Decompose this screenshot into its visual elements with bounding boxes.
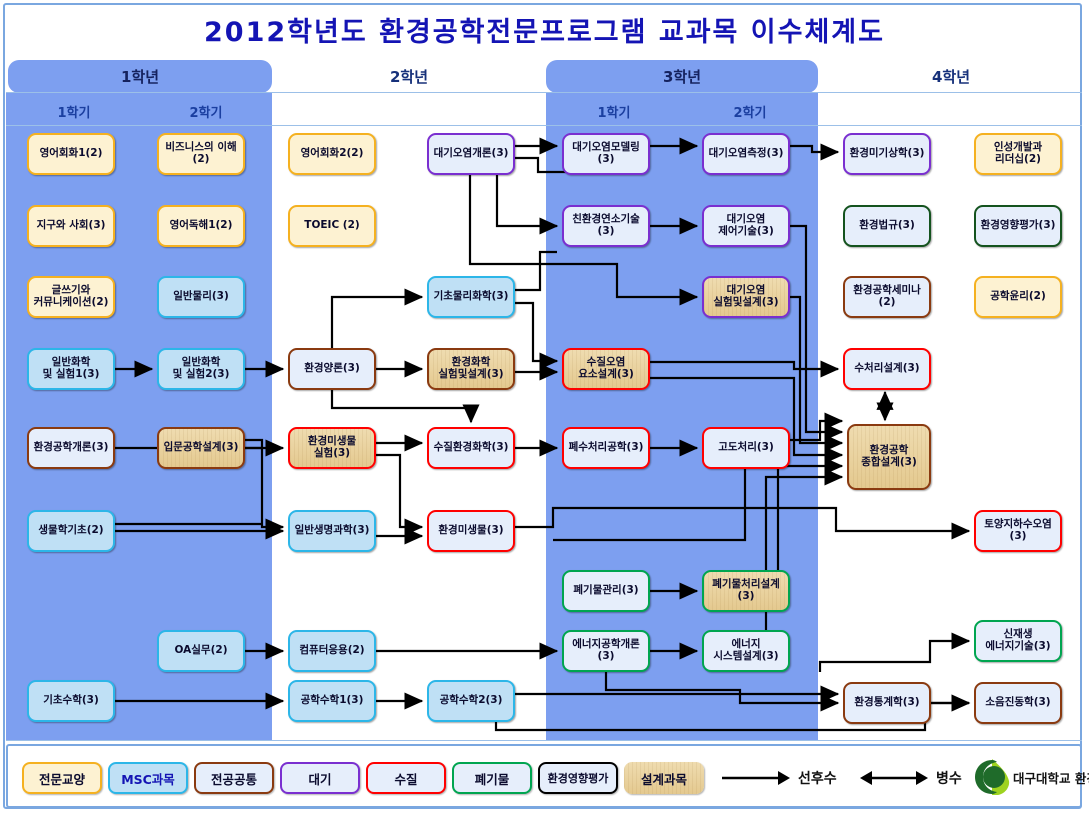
- course-node-biz[interactable]: 비즈니스의 이해 (2): [157, 133, 245, 175]
- header-separator-bottom: [6, 125, 1082, 126]
- legend-chip-0: 전문교양: [22, 762, 102, 794]
- course-node-envtheory[interactable]: 환경양론(3): [288, 348, 376, 390]
- course-node-chem2[interactable]: 일반화학 및 실험2(3): [157, 348, 245, 390]
- course-node-energyint[interactable]: 에너지공학개론 (3): [562, 630, 650, 672]
- course-node-watertreat[interactable]: 수처리설계(3): [843, 348, 931, 390]
- course-node-lifesci[interactable]: 일반생명과학(3): [288, 510, 376, 552]
- course-node-biobasic[interactable]: 생물학기초(2): [27, 510, 115, 552]
- course-node-engread[interactable]: 영어독해1(2): [157, 205, 245, 247]
- course-node-chem1[interactable]: 일반화학 및 실험1(3): [27, 348, 115, 390]
- course-node-ethics[interactable]: 공학윤리(2): [974, 276, 1062, 318]
- legend-panel: 전문교양MSC과목전공공통대기수질폐기물환경영향평가설계과목 선후수 병수 대구…: [6, 744, 1082, 808]
- course-node-envintro[interactable]: 환경공학개론(3): [27, 427, 115, 469]
- course-node-noise[interactable]: 소음진동학(3): [974, 682, 1062, 724]
- course-node-advtreat[interactable]: 고도처리(3): [702, 427, 790, 469]
- course-node-airmeasure[interactable]: 대기오염측정(3): [702, 133, 790, 175]
- prereq-arrow-icon: [720, 762, 792, 794]
- semester-header-y1s2: 2학기: [140, 98, 272, 125]
- course-node-earth[interactable]: 지구와 사회(3): [27, 205, 115, 247]
- course-node-envstat[interactable]: 환경통계학(3): [843, 682, 931, 724]
- course-node-wastedes[interactable]: 폐기물처리설계 (3): [702, 570, 790, 612]
- course-node-computer[interactable]: 컴퓨터응용(2): [288, 630, 376, 672]
- course-node-envlaw[interactable]: 환경법규(3): [843, 205, 931, 247]
- course-node-eng1[interactable]: 영어회화1(2): [27, 133, 115, 175]
- course-node-envmicro[interactable]: 환경미생물(3): [427, 510, 515, 552]
- course-node-airctrl[interactable]: 대기오염 제어기술(3): [702, 205, 790, 247]
- semester-header-y2s2: 2학기: [409, 98, 544, 125]
- course-node-envchemex[interactable]: 환경화학 실험및설계(3): [427, 348, 515, 390]
- course-node-envmicroex[interactable]: 환경미생물 실험(3): [288, 427, 376, 469]
- legend-chip-1: MSC과목: [108, 762, 188, 794]
- legend-chip-2: 전공공통: [194, 762, 274, 794]
- course-node-energysys[interactable]: 에너지 시스템설계(3): [702, 630, 790, 672]
- course-node-envassess[interactable]: 환경영향평가(3): [974, 205, 1062, 247]
- course-node-airmodel[interactable]: 대기오염모델링 (3): [562, 133, 650, 175]
- course-node-micromet[interactable]: 환경미기상학(3): [843, 133, 931, 175]
- year-header-3: 3학년: [546, 60, 818, 93]
- university-logo-icon: [971, 757, 1013, 797]
- course-node-basicmath[interactable]: 기초수학(3): [27, 680, 115, 722]
- semester-header-y4s1: 1학기: [820, 98, 951, 125]
- course-node-engmath1[interactable]: 공학수학1(3): [288, 680, 376, 722]
- legend-prereq-label: 선후수: [798, 762, 837, 794]
- chart-bottom-separator: [6, 740, 1082, 741]
- course-node-toeic[interactable]: TOEIC (2): [288, 205, 376, 247]
- course-node-engmath2[interactable]: 공학수학2(3): [427, 680, 515, 722]
- course-node-oa[interactable]: OA실무(2): [157, 630, 245, 672]
- year-header-2: 2학년: [274, 60, 544, 93]
- course-node-renewable[interactable]: 신재생 에너지기술(3): [974, 620, 1062, 662]
- course-node-write[interactable]: 글쓰기와 커뮤니케이션(2): [27, 276, 115, 318]
- semester-header-y2s1: 1학기: [274, 98, 409, 125]
- year-header-4: 4학년: [820, 60, 1082, 93]
- curriculum-flowchart-page: 2012학년도 환경공학전문프로그램 교과목 이수체계도 1학년 2학년 3학년…: [0, 0, 1089, 814]
- legend-chip-6: 환경영향평가: [538, 762, 618, 794]
- year-header-1: 1학년: [8, 60, 272, 93]
- course-node-soilwater[interactable]: 토양지하수오염 (3): [974, 510, 1062, 552]
- header-separator-top: [6, 92, 1082, 93]
- legend-chip-4: 수질: [366, 762, 446, 794]
- course-node-airintro[interactable]: 대기오염개론(3): [427, 133, 515, 175]
- course-node-capstone[interactable]: 환경공학 종합설계(3): [847, 424, 931, 490]
- course-node-airexp[interactable]: 대기오염 실험및설계(3): [702, 276, 790, 318]
- course-node-eng2[interactable]: 영어회화2(2): [288, 133, 376, 175]
- course-node-physchem[interactable]: 기초물리화학(3): [427, 276, 515, 318]
- semester-header-y4s2: 2학기: [951, 98, 1082, 125]
- course-node-introdes[interactable]: 입문공학설계(3): [157, 427, 245, 469]
- legend-corequisite-label: 병수: [936, 762, 962, 794]
- semester-header-y1s1: 1학기: [8, 98, 140, 125]
- course-node-phys[interactable]: 일반물리(3): [157, 276, 245, 318]
- page-title: 2012학년도 환경공학전문프로그램 교과목 이수체계도: [0, 10, 1089, 49]
- university-name-label: 대구대학교 환경공학과: [1013, 761, 1089, 793]
- course-node-waterchem[interactable]: 수질환경화학(3): [427, 427, 515, 469]
- course-node-wastewater[interactable]: 폐수처리공학(3): [562, 427, 650, 469]
- legend-chip-5: 폐기물: [452, 762, 532, 794]
- course-node-ecotech[interactable]: 친환경연소기술 (3): [562, 205, 650, 247]
- semester-header-y3s1: 1학기: [546, 98, 682, 125]
- legend-chip-7: 설계과목: [624, 762, 704, 794]
- semester-header-y3s2: 2학기: [682, 98, 818, 125]
- course-node-wastemgmt[interactable]: 폐기물관리(3): [562, 570, 650, 612]
- course-node-leadership[interactable]: 인성개발과 리더십(2): [974, 133, 1062, 175]
- corequisite-arrow-icon: [858, 762, 930, 794]
- course-node-waterdes[interactable]: 수질오염 요소설계(3): [562, 348, 650, 390]
- legend-chip-3: 대기: [280, 762, 360, 794]
- course-node-seminar[interactable]: 환경공학세미나 (2): [843, 276, 931, 318]
